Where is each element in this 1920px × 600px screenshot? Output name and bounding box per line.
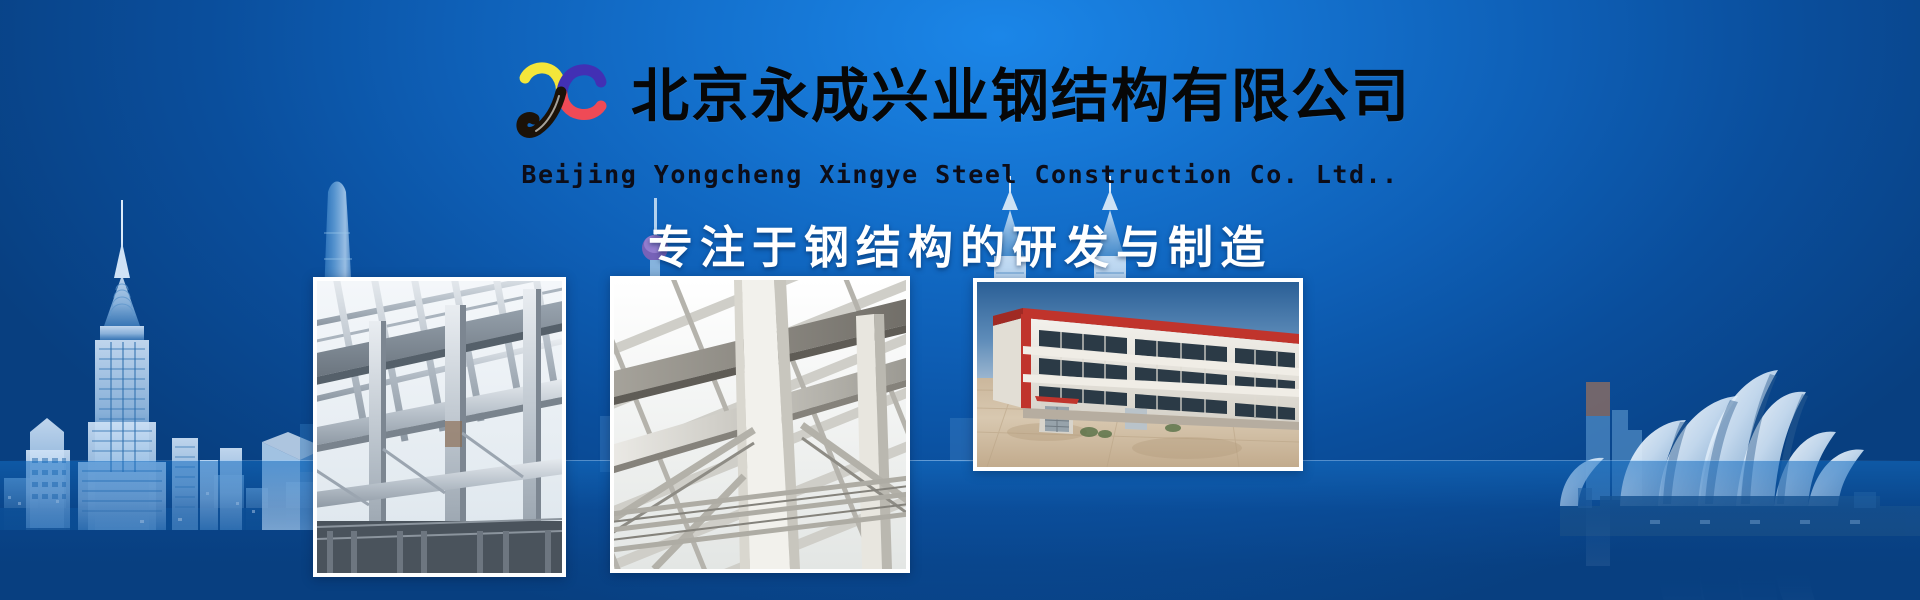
company-name-en: Beijing Yongcheng Xingye Steel Construct… (0, 160, 1920, 189)
banner-header: 北京永成兴业钢结构有限公司 Beijing Yongcheng Xingye S… (0, 42, 1920, 276)
water-reflection-band (0, 461, 1920, 600)
company-logo-icon (509, 42, 617, 150)
project-photo-steel-beam-frame[interactable] (313, 277, 566, 577)
company-banner: 北京永成兴业钢结构有限公司 Beijing Yongcheng Xingye S… (0, 0, 1920, 600)
brand-row: 北京永成兴业钢结构有限公司 (0, 42, 1920, 150)
company-name-cn: 北京永成兴业钢结构有限公司 (631, 67, 1411, 125)
project-photo-2-image (614, 280, 906, 569)
project-photo-roof-truss[interactable] (610, 276, 910, 573)
company-tagline-cn: 专注于钢结构的研发与制造 (0, 211, 1920, 276)
project-photo-1-image (317, 281, 562, 573)
project-photo-3-image (977, 282, 1299, 467)
project-photo-factory-exterior[interactable] (973, 278, 1303, 471)
